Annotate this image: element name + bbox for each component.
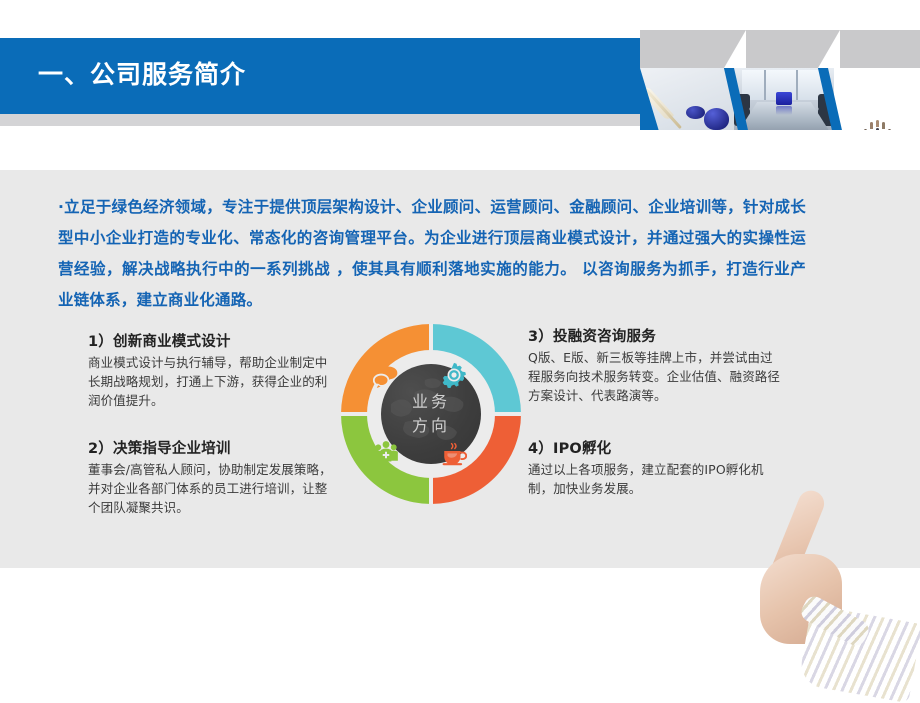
donut-center-line-1: 业务 [381, 390, 481, 414]
gear-icon [441, 362, 467, 388]
header-photo-strip [640, 30, 920, 130]
service-item-2-title: 2）决策指导企业培训 [88, 437, 336, 458]
conference-room-photo [734, 68, 834, 130]
room-projector-reflection [776, 106, 792, 115]
service-item-1-title: 1）创新商业模式设计 [88, 330, 336, 351]
intro-paragraph: ·立足于绿色经济领域，专注于提供顶层架构设计、企业顾问、运营顾问、金融顾问、企业… [58, 192, 806, 316]
donut-center-label: 业务 方向 [381, 390, 481, 438]
slide-header: 一、公司服务简介 [0, 0, 920, 132]
service-item-1-body: 商业模式设计与执行辅导，帮助企业制定中长期战略规划，打通上下游，获得企业的利润价… [88, 353, 336, 410]
business-direction-donut: 业务 方向 [341, 324, 521, 504]
speech-bubbles-icon [373, 364, 399, 390]
service-item-1: 1）创新商业模式设计 商业模式设计与执行辅导，帮助企业制定中长期战略规划，打通上… [88, 330, 336, 410]
service-item-4-title: 4）IPO孵化 [528, 437, 784, 458]
header-photo-gray-backdrop [640, 30, 920, 68]
crowd-arrow-photo [834, 68, 920, 130]
service-item-2-body: 董事会/高管私人顾问，协助制定发展策略，并对企业各部门体系的员工进行培训，让整个… [88, 460, 336, 517]
page-title: 一、公司服务简介 [38, 55, 246, 91]
service-item-3: 3）投融资咨询服务 Q版、E版、新三板等挂牌上市，并尝试由过程服务向技术服务转变… [528, 325, 784, 405]
people-group-icon [373, 440, 399, 466]
room-projector-icon [776, 92, 792, 105]
service-item-2: 2）决策指导企业培训 董事会/高管私人顾问，协助制定发展策略，并对企业各部门体系… [88, 437, 336, 517]
room-mullion [796, 70, 798, 100]
crowd-figures [834, 106, 920, 130]
room-mullion [764, 70, 766, 100]
service-item-3-body: Q版、E版、新三板等挂牌上市，并尝试由过程服务向技术服务转变。企业估值、融资路径… [528, 348, 784, 405]
coffee-cup-icon [441, 442, 467, 468]
service-item-3-title: 3）投融资咨询服务 [528, 325, 784, 346]
inkwell-lid-icon [686, 106, 705, 119]
donut-center-line-2: 方向 [381, 414, 481, 438]
pointing-hand-photo [742, 482, 920, 690]
inkwell-icon [704, 108, 729, 130]
